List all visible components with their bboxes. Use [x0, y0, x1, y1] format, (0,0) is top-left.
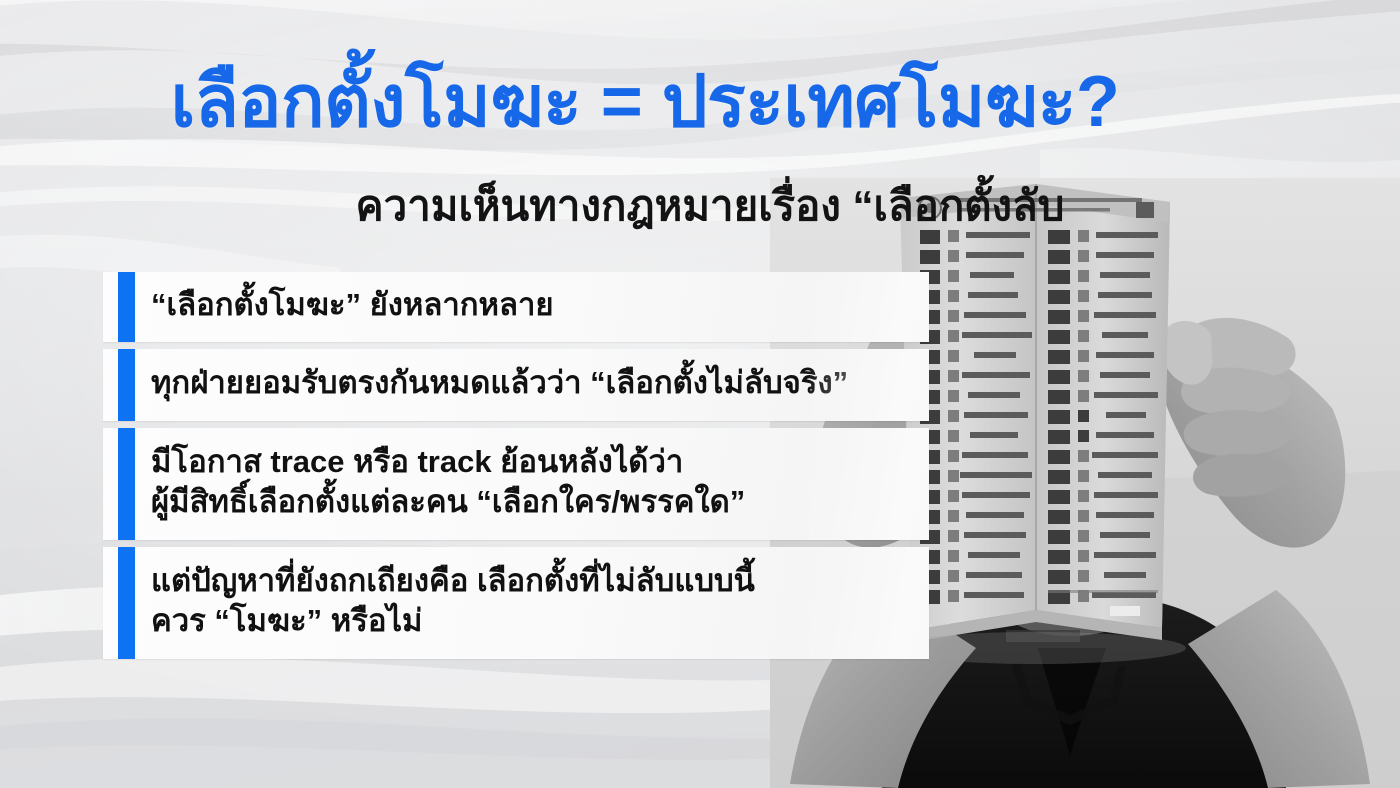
accent-bar-icon	[118, 349, 135, 421]
list-item-label: แต่ปัญหาที่ยังถกเถียงคือ เลือกตั้งที่ไม่…	[135, 555, 773, 652]
page-title: เลือกตั้งโมฆะ = ประเทศโมฆะ?	[0, 66, 1290, 139]
accent-bar-icon	[118, 547, 135, 659]
list-item-label: ทุกฝ่ายยอมรับตรงกันหมดแล้วว่า “เลือกตั้ง…	[135, 357, 866, 413]
slide-root: เลือกตั้งโมฆะ = ประเทศโมฆะ? ความเห็นทางก…	[0, 0, 1400, 788]
accent-bar-icon	[118, 272, 135, 342]
list-item[interactable]: แต่ปัญหาที่ยังถกเถียงคือ เลือกตั้งที่ไม่…	[103, 547, 929, 659]
list-item[interactable]: “เลือกตั้งโมฆะ” ยังหลากหลาย	[103, 272, 929, 342]
bullet-list: “เลือกตั้งโมฆะ” ยังหลากหลาย ทุกฝ่ายยอมรั…	[103, 272, 929, 659]
accent-bar-icon	[118, 428, 135, 540]
page-subtitle: ความเห็นทางกฎหมายเรื่อง “เลือกตั้งลับ	[0, 183, 1400, 229]
list-item-label: มีโอกาส trace หรือ track ย้อนหลังได้ว่า …	[135, 436, 763, 533]
list-item[interactable]: มีโอกาส trace หรือ track ย้อนหลังได้ว่า …	[103, 428, 929, 540]
list-item-label: “เลือกตั้งโมฆะ” ยังหลากหลาย	[135, 279, 572, 335]
list-item[interactable]: ทุกฝ่ายยอมรับตรงกันหมดแล้วว่า “เลือกตั้ง…	[103, 349, 929, 421]
